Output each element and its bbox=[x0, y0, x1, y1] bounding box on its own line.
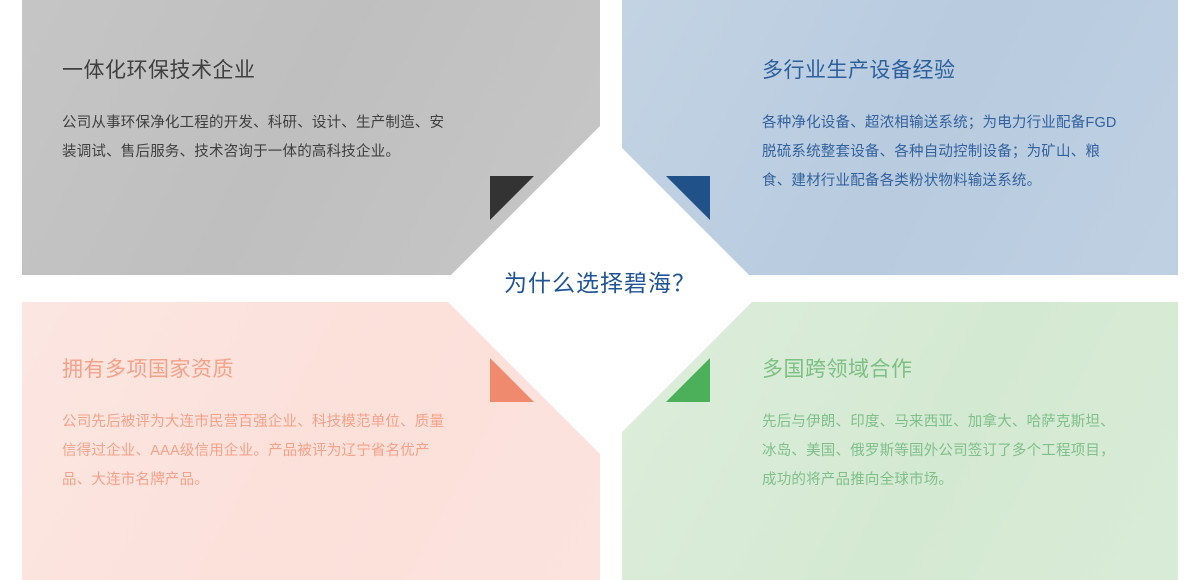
panel-content-multinational-cooperation: 多国跨领域合作 先后与伊朗、印度、马来西亚、加拿大、哈萨克斯坦、冰岛、美国、俄罗… bbox=[762, 357, 1122, 495]
panel-content-multi-industry-equipment-experience: 多行业生产设备经验 各种净化设备、超浓相输送系统；为电力行业配备FGD脱硫系统整… bbox=[762, 58, 1122, 196]
center-title: 为什么选择碧海？ bbox=[0, 264, 1200, 298]
why-choose-us-section: 为什么选择碧海？ 一体化环保技术企业 公司从事环保净化工程的开发、科研、设计、生… bbox=[0, 0, 1200, 580]
panel-heading: 拥有多项国家资质 bbox=[62, 357, 452, 382]
panel-body-text: 各种净化设备、超浓相输送系统；为电力行业配备FGD脱硫系统整套设备、各种自动控制… bbox=[762, 109, 1122, 196]
panel-heading: 多国跨领域合作 bbox=[762, 357, 1122, 382]
panel-body-text: 先后与伊朗、印度、马来西亚、加拿大、哈萨克斯坦、冰岛、美国、俄罗斯等国外公司签订… bbox=[762, 408, 1122, 495]
panel-content-national-qualifications: 拥有多项国家资质 公司先后被评为大连市民营百强企业、科技模范单位、质量信得过企业… bbox=[62, 357, 452, 495]
panel-body-text: 公司从事环保净化工程的开发、科研、设计、生产制造、安装调试、售后服务、技术咨询于… bbox=[62, 109, 452, 167]
panel-content-integrated-environmental-technology: 一体化环保技术企业 公司从事环保净化工程的开发、科研、设计、生产制造、安装调试、… bbox=[62, 58, 452, 167]
panel-heading: 多行业生产设备经验 bbox=[762, 58, 1122, 83]
panel-body-text: 公司先后被评为大连市民营百强企业、科技模范单位、质量信得过企业、AAA级信用企业… bbox=[62, 408, 452, 495]
panel-heading: 一体化环保技术企业 bbox=[62, 58, 452, 83]
